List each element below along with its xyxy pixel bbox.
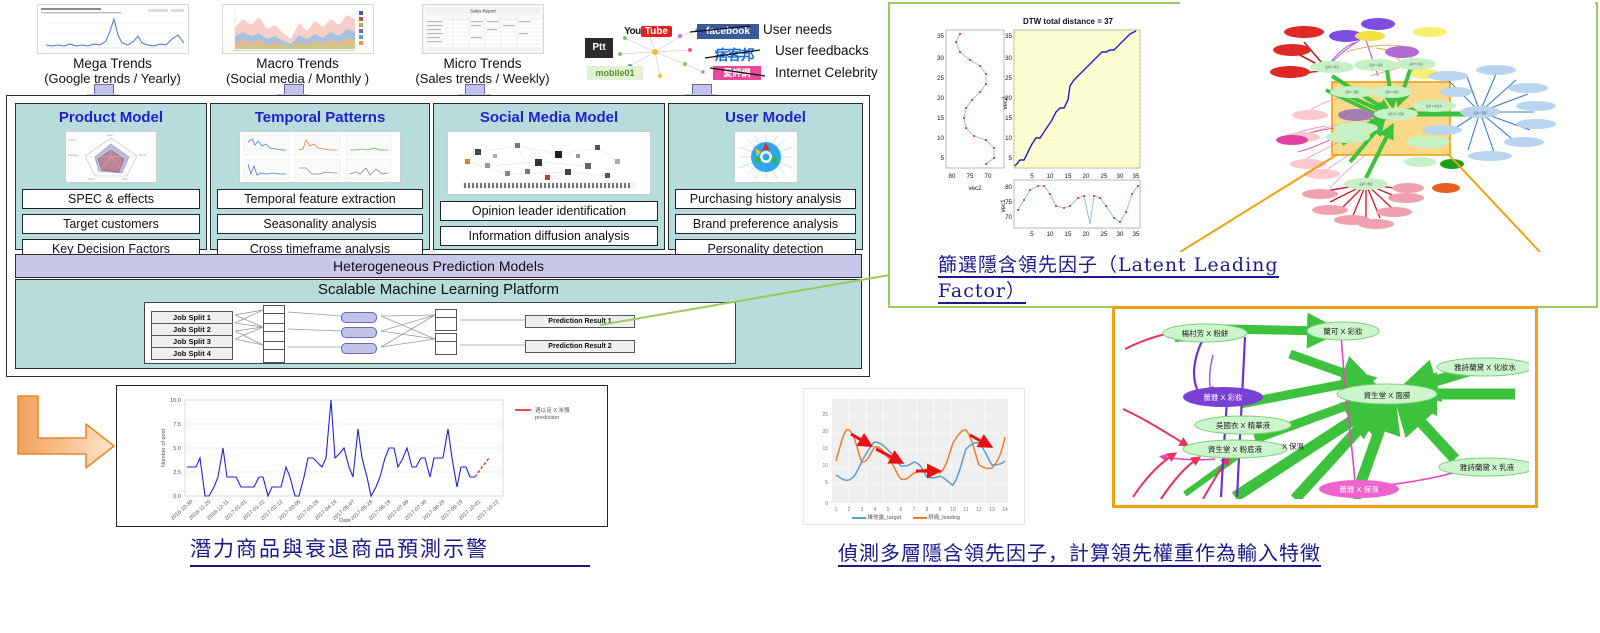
bottom-right-caption-text: 偵測多層隱含領先因子，計算領先權重作為輸入特徵 [838,541,1321,567]
svg-text:Spec: Spec [107,133,114,137]
network-caption: 篩選隱含領先因子（Latent Leading Factor） [938,252,1478,304]
svg-text:15: 15 [1065,173,1072,180]
radar-chart-thumbnail: SpecBrand PriceScentPackage 100% [65,131,157,183]
sales-report-table-thumbnail: Sales Report [422,4,544,54]
zoom-node-label: 雅詩蘭黛 X 化妝水 [1454,362,1516,372]
model-title: Social Media Model [434,109,664,126]
mini-table-svg: Sales Report [423,5,543,53]
svg-text:25: 25 [937,75,944,82]
svg-text:11: 11 [963,507,968,513]
svg-text:80: 80 [1005,184,1012,191]
svg-text:2.5: 2.5 [173,470,181,476]
model-column-product[interactable]: Product Model SpecBrand PriceScentPackag… [15,103,207,250]
network-zoom-detail-panel: 楊村芳 X 粉餅 蘭可 X 彩妝 蕾雅 X 彩妝 吳國衣 X 精華液 資生堂 X… [1112,306,1538,508]
svg-text:品牌 X 面膜: 品牌 X 面膜 [1473,111,1487,115]
svg-text:Package: Package [68,153,79,157]
model-row[interactable]: SPEC & effects [22,189,200,209]
svg-text:15: 15 [1065,231,1072,238]
svg-text:品牌 X 乳液: 品牌 X 乳液 [1409,62,1423,66]
vec2-axis-label: vec2 [968,185,982,192]
architecture-diagram: Product Model SpecBrand PriceScentPackag… [6,95,870,377]
svg-text:Price: Price [122,177,128,181]
svg-text:25: 25 [822,412,828,418]
svg-text:Scent: Scent [88,177,95,181]
svg-text:5: 5 [825,480,828,486]
model-column-user[interactable]: User Model [668,103,863,250]
logo-youtube: YouTube [617,24,679,39]
svg-text:75: 75 [967,173,974,180]
svg-text:80: 80 [949,173,956,180]
bottom-left-caption: 潛力商品與衰退商品預測示警 [190,533,590,567]
svg-text:品牌 X 彩妝: 品牌 X 彩妝 [1369,63,1383,67]
svg-text:14: 14 [1002,507,1008,513]
model-title: Temporal Patterns [211,109,429,126]
svg-text:Brand: Brand [139,153,146,157]
svg-text:35: 35 [937,33,944,40]
svg-text:20: 20 [1083,173,1090,180]
small-multiples-svg [240,132,400,182]
post-count-line-chart: 0.02.55.0 7.510.0 Number of post 週以足 X 米… [117,386,605,524]
svg-text:15: 15 [822,446,828,452]
green-connector-line [600,270,900,330]
mini-area-chart-svg [223,5,373,53]
svg-text:0.0: 0.0 [173,494,181,500]
zoom-node-label: 吳國衣 X 精華液 [1216,420,1271,430]
svg-text:Number of post: Number of post [161,428,167,467]
model-pill [341,327,377,338]
trend-title: Micro Trends [390,56,575,71]
svg-text:0: 0 [825,501,828,507]
model-row[interactable]: Information diffusion analysis [440,226,658,246]
svg-text:品牌 X 面膜: 品牌 X 面膜 [1345,90,1359,94]
svg-text:7.5: 7.5 [173,422,181,428]
svg-text:20: 20 [1005,95,1012,102]
svg-text:資生堂 X 面膜: 資生堂 X 面膜 [1388,112,1405,116]
svg-text:100%: 100% [69,138,76,142]
latent-leading-factor-network: 品牌 X 保濕品牌 X 彩妝 品牌 X 乳液品牌 X 面膜 品牌 X 精華資生堂… [1180,2,1595,252]
svg-text:Sales Report: Sales Report [470,9,496,14]
model-row[interactable]: Temporal feature extraction [217,189,423,209]
line-chart-thumbnail [37,4,189,54]
svg-text:品牌 X 精華: 品牌 X 精華 [1385,90,1399,94]
logo-mobile01: mobile01 [587,66,643,80]
svg-text:70: 70 [985,173,992,180]
mini-line-chart-svg [38,5,188,53]
svg-text:20: 20 [937,95,944,102]
svg-text:2: 2 [848,507,851,513]
svg-text:20: 20 [822,429,828,435]
job-split-row[interactable]: Job Split 4 [151,347,233,360]
bottom-center-chart-panel: 0510 152025 1234 5678 9101112 1314 維他露_t… [803,388,1025,525]
svg-text:12: 12 [976,507,982,513]
logo-ptt-text: Ptt [592,42,605,53]
svg-text:10: 10 [1005,135,1012,142]
network-caption-line2: Factor） [938,280,1026,304]
bottom-left-chart-panel: 0.02.55.0 7.510.0 Number of post 週以足 X 米… [116,385,608,527]
model-column-temporal[interactable]: Temporal Patterns [210,103,430,250]
zoom-node-label: 雅詩蘭黛 X 乳液 [1460,462,1515,472]
svg-text:品牌 X 粉底: 品牌 X 粉底 [1359,182,1373,186]
svg-text:30: 30 [1117,173,1124,180]
svg-text:vec1: vec1 [1000,199,1007,213]
legend-label-target: 維他露_target [868,515,902,521]
model-row[interactable]: Seasonality analysis [217,214,423,234]
svg-text:20: 20 [1083,231,1090,238]
dtw-alignment-figure: DTW total distance = 37 [908,8,1148,238]
svg-text:1: 1 [835,507,838,513]
logo-ptt: Ptt [585,38,613,58]
svg-text:10: 10 [1047,173,1054,180]
svg-text:25: 25 [1101,173,1108,180]
zoom-node-label: 資生堂 X 粉底液 [1208,444,1263,454]
svg-text:30: 30 [1005,55,1012,62]
model-title: Product Model [16,109,206,126]
zoom-node-label: 資生堂 X 面膜 [1364,390,1411,400]
model-row[interactable]: Brand preference analysis [675,214,856,234]
prediction-result[interactable]: Prediction Result 2 [525,340,635,353]
svg-text:5: 5 [1030,173,1034,180]
social-graph-svg [448,132,650,194]
svg-text:25: 25 [1101,231,1108,238]
svg-text:10: 10 [822,463,828,469]
svg-text:70: 70 [1005,214,1012,221]
user-gear-svg [735,132,797,182]
chart-legend: 維他露_target 舒痛_leading [852,513,960,521]
svg-text:5.0: 5.0 [173,446,181,452]
leading-lagging-line-chart: 0510 152025 1234 5678 9101112 1314 [804,389,1022,522]
svg-text:30: 30 [1117,231,1124,238]
svg-text:10.0: 10.0 [170,398,181,404]
label-user-needs: User needs [763,22,832,37]
model-row[interactable]: Opinion leader identification [440,201,658,221]
svg-text:5: 5 [941,155,945,162]
trend-item-mega: Mega Trends (Google trends / Yearly) [20,4,205,86]
radar-svg: SpecBrand PriceScentPackage 100% [66,132,156,182]
zoom-node-label: 蘭可 X 彩妝 [1323,326,1363,336]
model-column-social[interactable]: Social Media Model [433,103,665,250]
model-pill [341,343,377,354]
svg-text:35: 35 [1005,33,1012,40]
logo-mobile01-text: mobile01 [595,68,634,78]
svg-text:35: 35 [1133,173,1140,180]
model-row[interactable]: Target customers [22,214,200,234]
dtw-svg: DTW total distance = 37 [908,8,1148,238]
network-zoom-svg: 楊村芳 X 粉餅 蘭可 X 彩妝 蕾雅 X 彩妝 吳國衣 X 精華液 資生堂 X… [1115,309,1529,499]
zoom-node-label: 蕾雅 X 保濕 [1339,484,1379,494]
model-title: User Model [669,109,862,126]
bottom-right-caption: 偵測多層隱含領先因子，計算領先權重作為輸入特徵 [838,538,1538,568]
svg-text:15: 15 [937,115,944,122]
legend-series-2: prediction [535,415,559,421]
model-row[interactable]: Purchasing history analysis [675,189,856,209]
svg-text:13: 13 [989,507,995,513]
svg-text:30: 30 [937,55,944,62]
worker-node [263,341,285,363]
svg-text:5: 5 [1009,155,1013,162]
stacked-area-chart-thumbnail [222,4,374,54]
trend-item-macro: Macro Trends (Social media / Monthly ) [205,4,390,86]
svg-text:35: 35 [1133,231,1140,238]
small-multiples-chart-thumbnail [239,131,401,183]
model-pill [341,312,377,323]
orange-bent-arrow-icon [8,390,120,480]
label-user-feedbacks: User feedbacks [775,43,869,58]
svg-text:10: 10 [1047,231,1054,238]
user-gear-thumbnail [734,131,798,183]
trend-title: Macro Trends [205,56,390,71]
legend-label-leading: 舒痛_leading [928,515,960,521]
svg-text:品牌 X 化妝水: 品牌 X 化妝水 [1426,104,1443,108]
trend-title: Mega Trends [20,56,205,71]
aggregator-node [435,333,457,355]
svg-text:10: 10 [937,135,944,142]
svg-text:Date: Date [339,518,351,524]
zoom-node-label: X 保濕 [1282,441,1305,451]
aggregator-node [435,309,457,331]
svg-text:5: 5 [1030,231,1034,238]
trend-item-micro: Sales Report Micro Trends (Sa [390,4,575,86]
svg-text:25: 25 [1005,75,1012,82]
svg-text:品牌 X 保濕: 品牌 X 保濕 [1325,65,1339,69]
label-internet-celebrity: Internet Celebrity [775,65,878,80]
social-network-graph-thumbnail [447,131,651,195]
svg-text:15: 15 [1005,115,1012,122]
dtw-title: DTW total distance = 37 [1023,17,1114,26]
network-caption-line1: 篩選隱含領先因子（Latent Leading [938,254,1279,278]
zoom-node-label: 蕾雅 X 彩妝 [1203,392,1243,402]
zoom-node-label: 楊村芳 X 粉餅 [1182,328,1229,338]
legend-series-1: 週以足 X 米漿 [535,406,570,414]
